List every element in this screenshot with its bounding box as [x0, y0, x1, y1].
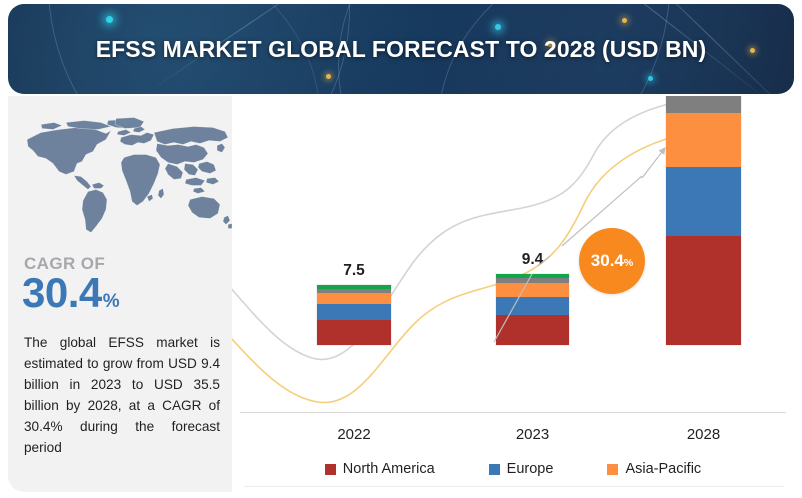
- bar-segment-asia-pacific[interactable]: [496, 283, 569, 297]
- chart-area: 7.5 9.4 35.5: [232, 96, 794, 492]
- legend-swatch-asia-pacific: [607, 464, 618, 475]
- plot-region: 7.5 9.4 35.5: [232, 96, 794, 426]
- x-axis-label-2028: 2028: [665, 426, 742, 443]
- page-title: EFSS MARKET GLOBAL FORECAST TO 2028 (USD…: [8, 4, 794, 94]
- bar-segment-rest-of-world[interactable]: [666, 96, 741, 113]
- legend-item-europe[interactable]: Europe: [489, 461, 554, 477]
- legend-item-asia-pacific[interactable]: Asia-Pacific: [607, 461, 701, 477]
- bar-segment-europe[interactable]: [317, 304, 391, 320]
- bar-total-label-2022: 7.5: [316, 262, 392, 280]
- left-info-panel: CAGR OF 30.4 % The global EFSS market is…: [8, 96, 232, 492]
- legend-label-europe: Europe: [507, 461, 554, 477]
- legend-swatch-north-america: [325, 464, 336, 475]
- x-axis-label-2023: 2023: [495, 426, 570, 443]
- x-axis-label-2022: 2022: [316, 426, 392, 443]
- bar-segment-asia-pacific[interactable]: [666, 113, 741, 167]
- bar-2028[interactable]: [665, 96, 742, 346]
- legend-swatch-europe: [489, 464, 500, 475]
- bar-segment-europe[interactable]: [496, 297, 569, 315]
- bar-2022[interactable]: [316, 284, 392, 346]
- header-banner: EFSS MARKET GLOBAL FORECAST TO 2028 (USD…: [8, 4, 794, 94]
- bar-segment-europe[interactable]: [666, 167, 741, 236]
- cagr-callout-value: 30.4: [591, 228, 624, 294]
- x-axis-line: [240, 412, 786, 413]
- cagr-percent-symbol: %: [103, 291, 120, 313]
- world-map-icon: [18, 108, 232, 248]
- chart-legend: North America Europe Asia-Pacific: [232, 452, 794, 486]
- cagr-value-group: 30.4 %: [22, 272, 120, 314]
- bar-2023[interactable]: [495, 273, 570, 346]
- infographic-root: EFSS MARKET GLOBAL FORECAST TO 2028 (USD…: [0, 0, 802, 498]
- bar-total-label-2023: 9.4: [495, 251, 570, 269]
- cagr-callout-percent: %: [624, 230, 633, 296]
- bar-segment-north-america[interactable]: [666, 236, 741, 345]
- bar-segment-north-america[interactable]: [317, 320, 391, 345]
- bar-segment-north-america[interactable]: [496, 315, 569, 345]
- legend-label-north-america: North America: [343, 461, 435, 477]
- cagr-callout-bubble[interactable]: 30.4 %: [579, 228, 645, 294]
- cagr-value: 30.4: [22, 272, 102, 314]
- legend-label-asia-pacific: Asia-Pacific: [625, 461, 701, 477]
- bar-segment-asia-pacific[interactable]: [317, 293, 391, 304]
- legend-item-north-america[interactable]: North America: [325, 461, 435, 477]
- market-description: The global EFSS market is estimated to g…: [24, 332, 220, 458]
- legend-divider: [244, 486, 784, 487]
